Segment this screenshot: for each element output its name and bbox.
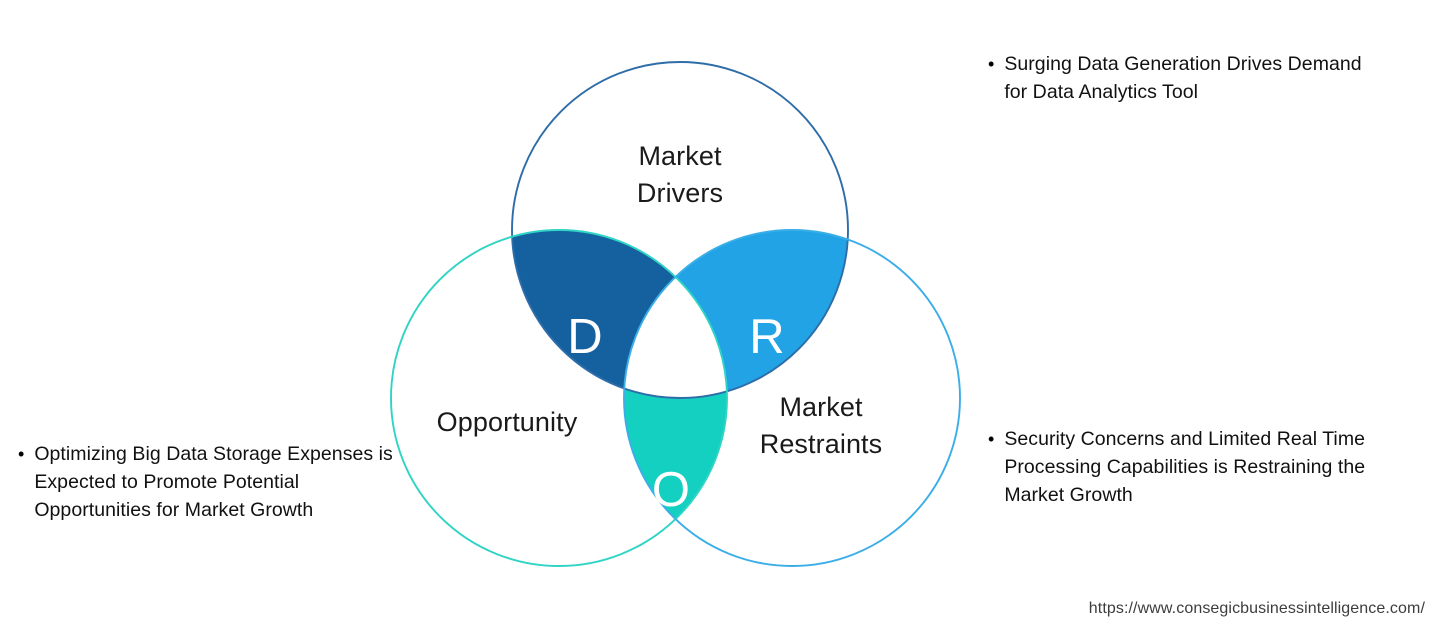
circle-label-drivers-line2: Drivers bbox=[637, 178, 723, 208]
callout-market-restraints: • Security Concerns and Limited Real Tim… bbox=[988, 425, 1418, 509]
callout-restraints-text: Security Concerns and Limited Real Time … bbox=[1004, 425, 1418, 509]
venn-diagram: Market Drivers Opportunity Market Restra… bbox=[360, 40, 1000, 600]
bullet-icon: • bbox=[988, 425, 994, 453]
callout-drivers-text: Surging Data Generation Drives Demand fo… bbox=[1004, 50, 1388, 106]
circle-label-drivers-line1: Market bbox=[638, 141, 722, 171]
bullet-icon: • bbox=[988, 50, 994, 78]
source-url[interactable]: https://www.consegicbusinessintelligence… bbox=[1089, 599, 1425, 619]
lens-letter-d: D bbox=[567, 310, 603, 364]
venn-svg: Market Drivers Opportunity Market Restra… bbox=[360, 40, 1000, 600]
venn-diagram-page: Market Drivers Opportunity Market Restra… bbox=[0, 0, 1453, 643]
callout-opportunity-text: Optimizing Big Data Storage Expenses is … bbox=[34, 440, 398, 524]
lens-letter-o: O bbox=[652, 463, 690, 517]
circle-label-restraints-line2: Restraints bbox=[760, 429, 883, 459]
lens-letter-r: R bbox=[749, 310, 785, 364]
callout-market-drivers: • Surging Data Generation Drives Demand … bbox=[988, 50, 1388, 106]
circle-label-opportunity: Opportunity bbox=[437, 407, 578, 437]
bullet-icon: • bbox=[18, 440, 24, 468]
circle-label-restraints-line1: Market bbox=[779, 392, 863, 422]
callout-opportunity: • Optimizing Big Data Storage Expenses i… bbox=[18, 440, 398, 524]
